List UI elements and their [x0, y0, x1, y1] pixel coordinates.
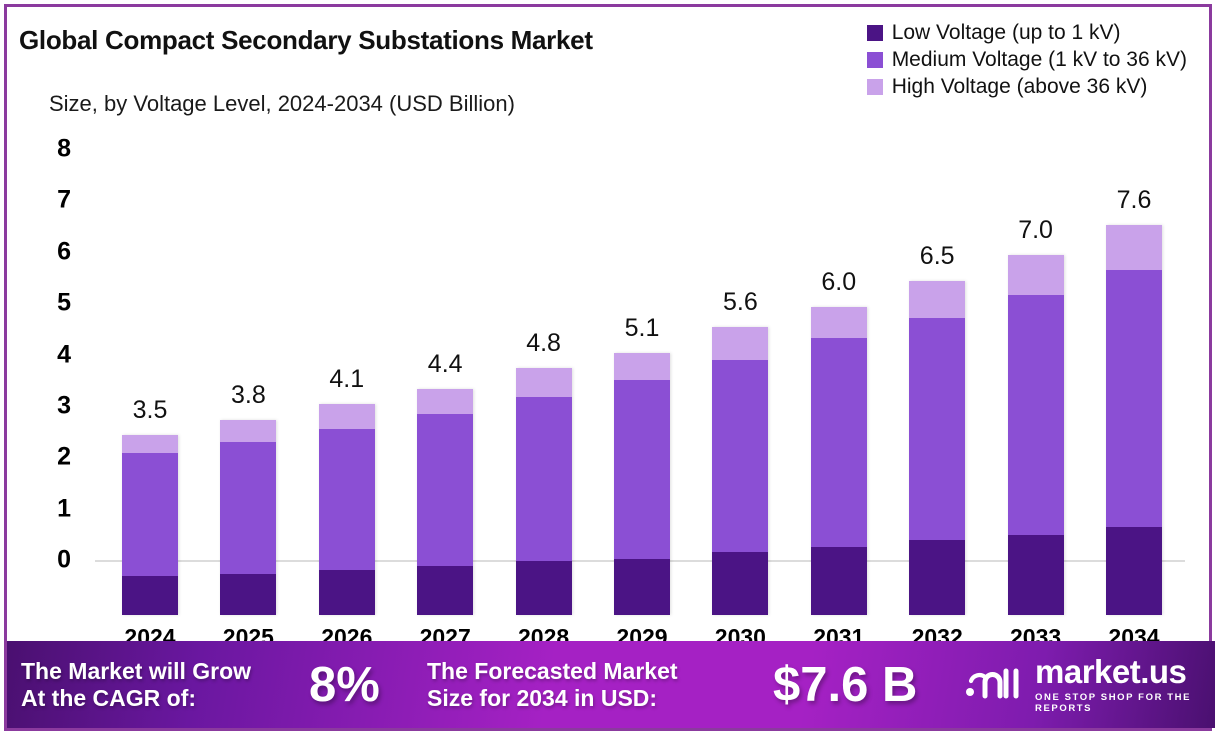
forecast-size-value: $7.6 B [773, 657, 917, 713]
bar-total-label: 6.5 [882, 242, 992, 271]
bar-total-label: 4.1 [292, 365, 402, 394]
forecast-caption-line-2: Size for 2034 in USD: [427, 685, 678, 711]
bar-segment-low-voltage[interactable] [1008, 535, 1064, 615]
forecast-size-caption: The Forecasted Market Size for 2034 in U… [427, 658, 678, 710]
bar-segment-medium-voltage[interactable] [516, 397, 572, 561]
y-axis-tick-label: 2 [29, 443, 71, 472]
bar-segment-high-voltage[interactable] [122, 435, 178, 453]
cagr-caption: The Market will Grow At the CAGR of: [21, 658, 251, 710]
summary-banner: The Market will Grow At the CAGR of: 8% … [7, 641, 1215, 728]
bar-segment-low-voltage[interactable] [516, 561, 572, 615]
cagr-value: 8% [309, 657, 380, 713]
bar-segment-low-voltage[interactable] [712, 552, 768, 615]
y-axis-tick-label: 8 [29, 135, 71, 164]
stacked-bar[interactable] [811, 307, 867, 615]
bar-group[interactable]: 3.52024 [122, 62, 178, 615]
bar-segment-medium-voltage[interactable] [1106, 270, 1162, 527]
bar-segment-medium-voltage[interactable] [811, 338, 867, 547]
bar-group[interactable]: 5.12029 [614, 62, 670, 615]
bar-segment-low-voltage[interactable] [319, 570, 375, 615]
bar-segment-low-voltage[interactable] [122, 576, 178, 615]
logo-name: market.us [1035, 655, 1215, 688]
bar-total-label: 5.6 [685, 288, 795, 317]
bar-total-label: 4.8 [489, 329, 599, 358]
bar-segment-medium-voltage[interactable] [122, 453, 178, 576]
bar-segment-high-voltage[interactable] [319, 404, 375, 428]
bar-segment-high-voltage[interactable] [1106, 225, 1162, 270]
bar-segment-high-voltage[interactable] [1008, 255, 1064, 295]
bar-group[interactable]: 6.02031 [811, 62, 867, 615]
y-axis-tick-label: 3 [29, 391, 71, 420]
bar-segment-medium-voltage[interactable] [909, 318, 965, 540]
bar-segment-medium-voltage[interactable] [712, 360, 768, 552]
stacked-bar[interactable] [516, 368, 572, 615]
cagr-caption-line-1: The Market will Grow [21, 658, 251, 684]
bar-segment-medium-voltage[interactable] [614, 380, 670, 559]
bar-segment-high-voltage[interactable] [811, 307, 867, 338]
bar-group[interactable]: 4.82028 [516, 62, 572, 615]
bar-segment-medium-voltage[interactable] [417, 414, 473, 567]
bar-group[interactable]: 7.02033 [1008, 62, 1064, 615]
bar-segment-low-voltage[interactable] [909, 540, 965, 615]
bar-segment-low-voltage[interactable] [811, 547, 867, 615]
bar-group[interactable]: 4.42027 [417, 62, 473, 615]
market-us-logo[interactable]: market.us ONE STOP SHOP FOR THE REPORTS [965, 655, 1215, 714]
stacked-bar-chart: 012345678 3.520243.820254.120264.420274.… [7, 7, 1215, 615]
bar-total-label: 5.1 [587, 314, 697, 343]
bar-group[interactable]: 4.12026 [319, 62, 375, 615]
bar-segment-medium-voltage[interactable] [1008, 295, 1064, 535]
y-axis-tick-label: 1 [29, 494, 71, 523]
bar-segment-low-voltage[interactable] [1106, 527, 1162, 615]
bar-segment-high-voltage[interactable] [516, 368, 572, 396]
bar-group[interactable]: 5.62030 [712, 62, 768, 615]
bar-segment-high-voltage[interactable] [909, 281, 965, 318]
cagr-caption-line-2: At the CAGR of: [21, 685, 251, 711]
y-axis-tick-label: 7 [29, 186, 71, 215]
bar-segment-high-voltage[interactable] [417, 389, 473, 414]
stacked-bar[interactable] [712, 327, 768, 615]
stacked-bar[interactable] [614, 353, 670, 615]
infographic-frame: Global Compact Secondary Substations Mar… [4, 4, 1212, 731]
stacked-bar[interactable] [417, 389, 473, 615]
bar-group[interactable]: 3.82025 [220, 62, 276, 615]
bar-segment-high-voltage[interactable] [220, 420, 276, 443]
market-us-logo-icon [965, 665, 1025, 704]
bar-total-label: 6.0 [784, 268, 894, 297]
bar-segment-medium-voltage[interactable] [319, 429, 375, 571]
forecast-caption-line-1: The Forecasted Market [427, 658, 678, 684]
y-axis-tick-label: 0 [29, 546, 71, 575]
bar-segment-medium-voltage[interactable] [220, 442, 276, 574]
y-axis-tick-label: 6 [29, 237, 71, 266]
stacked-bar[interactable] [319, 404, 375, 615]
logo-wordmark: market.us ONE STOP SHOP FOR THE REPORTS [1035, 655, 1215, 714]
logo-tagline: ONE STOP SHOP FOR THE REPORTS [1035, 692, 1215, 714]
bar-segment-high-voltage[interactable] [614, 353, 670, 380]
stacked-bar[interactable] [909, 281, 965, 615]
bar-total-label: 3.8 [193, 381, 303, 410]
bar-total-label: 7.0 [981, 216, 1091, 245]
bar-group[interactable]: 7.62034 [1106, 62, 1162, 615]
bar-segment-low-voltage[interactable] [614, 559, 670, 616]
bar-total-label: 7.6 [1079, 186, 1189, 215]
bar-segment-low-voltage[interactable] [220, 574, 276, 615]
bar-total-label: 3.5 [95, 396, 205, 425]
stacked-bar[interactable] [1106, 225, 1162, 615]
bar-segment-low-voltage[interactable] [417, 566, 473, 615]
stacked-bar[interactable] [122, 435, 178, 615]
bar-group[interactable]: 6.52032 [909, 62, 965, 615]
stacked-bar[interactable] [220, 420, 276, 615]
bar-segment-high-voltage[interactable] [712, 327, 768, 359]
bar-total-label: 4.4 [390, 350, 500, 379]
y-axis-tick-label: 4 [29, 340, 71, 369]
y-axis-tick-label: 5 [29, 289, 71, 318]
stacked-bar[interactable] [1008, 255, 1064, 615]
